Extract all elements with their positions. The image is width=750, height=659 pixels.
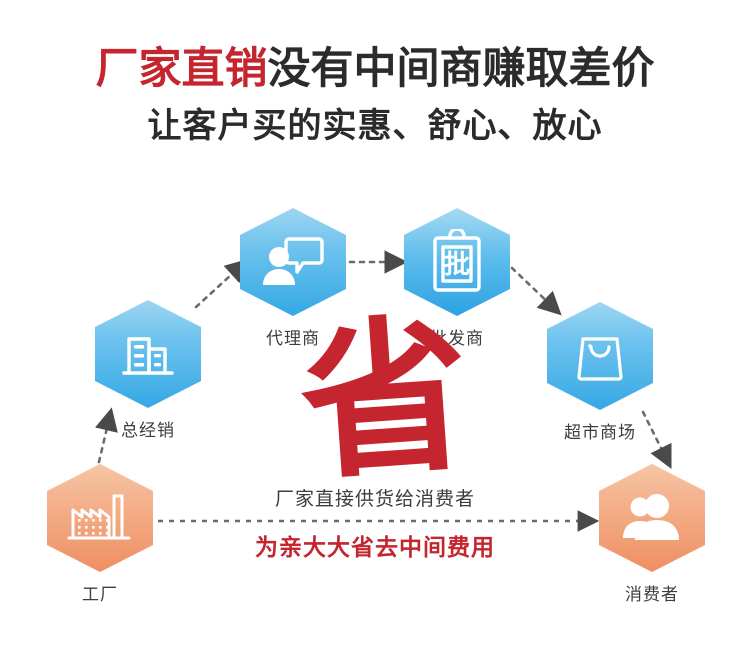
arrow-distributor-to-agent (196, 264, 243, 307)
direct-channel-caption: 厂家直接供货给消费者 (0, 484, 750, 511)
node-supermarket[interactable]: 超市商场 (547, 302, 653, 443)
clipboard-icon-glyph: 批 (444, 250, 470, 280)
shopping-bag-icon (569, 325, 631, 387)
savings-stamp-character: 省 (294, 312, 475, 488)
hex-agent (240, 208, 346, 316)
direct-channel-highlight: 为亲大大省去中间费用 (0, 528, 750, 562)
node-label-factory: 工厂 (47, 580, 153, 605)
promo-banner: 厂家直销没有中间商赚取差价 让客户买的实惠、舒心、放心 (0, 0, 750, 659)
node-label-general-distributor: 总经销 (95, 416, 201, 441)
node-label-consumer: 消费者 (599, 580, 705, 605)
hex-supermarket (547, 302, 653, 410)
person-speech-bubble-icon (261, 233, 325, 291)
node-label-supermarket: 超市商场 (547, 418, 653, 443)
clipboard-wholesale-icon: 批 (428, 229, 486, 295)
node-general-distributor[interactable]: 总经销 (95, 300, 201, 441)
hex-general-distributor (95, 300, 201, 408)
supply-chain-diagram: 总经销 代理商 (0, 0, 750, 659)
office-building-icon (117, 323, 179, 385)
